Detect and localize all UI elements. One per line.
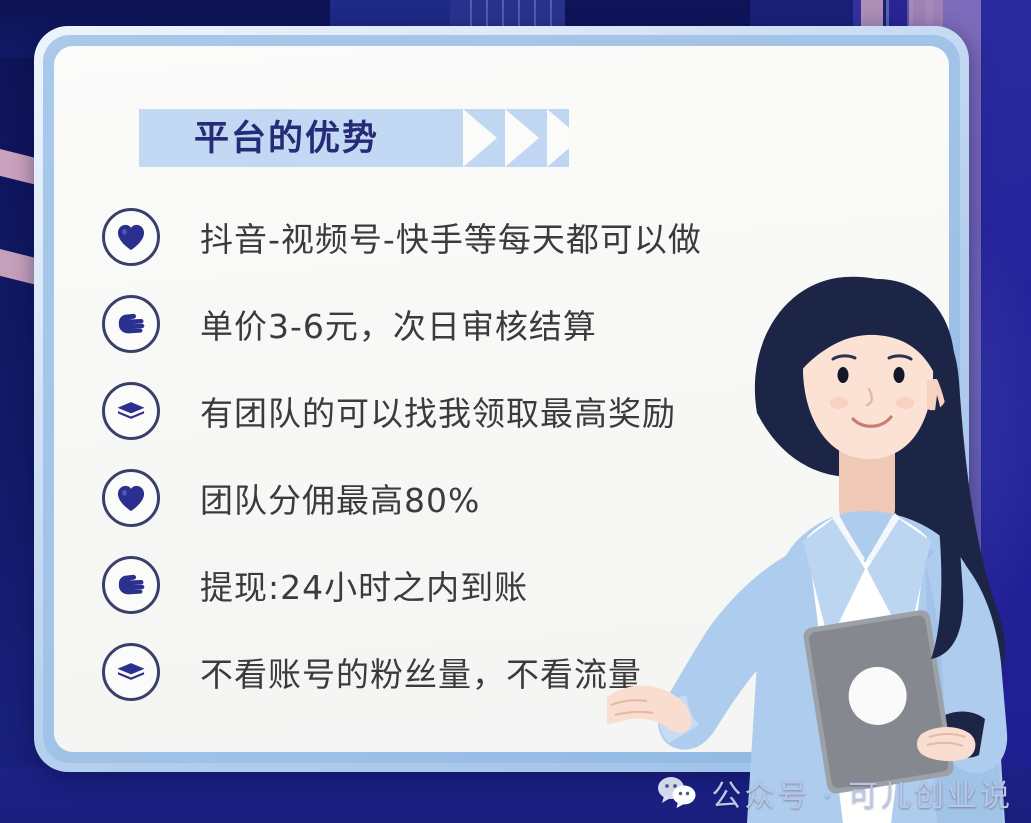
chevron-left-double-icon (429, 109, 569, 167)
hand-icon (102, 295, 160, 353)
list-item-label: 抖音-视频号-快手等每天都可以做 (200, 213, 702, 261)
heart-icon (102, 469, 160, 527)
watermark-label: 公众号 · 可儿创业说 (711, 771, 1013, 815)
layers-icon (102, 382, 160, 440)
list-item-label: 不看账号的粉丝量，不看流量 (200, 648, 642, 696)
heart-icon (102, 208, 160, 266)
list-item-label: 提现:24小时之内到账 (200, 561, 528, 609)
poster-canvas: 平台的优势 抖音-视频号-快手等每天都可以做 (0, 0, 1031, 823)
hand-icon (102, 556, 160, 614)
title-banner: 平台的优势 (139, 109, 569, 167)
wechat-icon (656, 776, 698, 810)
layers-icon (102, 643, 160, 701)
list-item-label: 有团队的可以找我领取最高奖励 (200, 387, 676, 435)
businesswoman-illustration (607, 263, 1031, 823)
list-item: 抖音-视频号-快手等每天都可以做 (102, 206, 842, 268)
watermark: 公众号 · 可儿创业说 (656, 771, 1013, 815)
list-item-label: 团队分佣最高80% (200, 474, 480, 522)
list-item-label: 单价3-6元，次日审核结算 (200, 300, 597, 348)
page-title: 平台的优势 (194, 121, 379, 156)
